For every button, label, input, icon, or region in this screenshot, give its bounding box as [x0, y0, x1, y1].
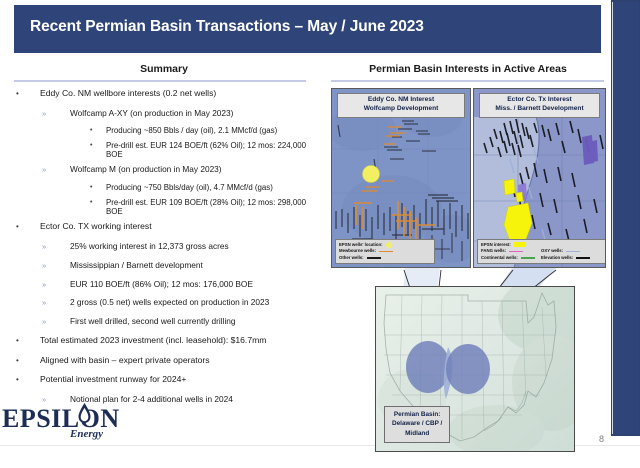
legend-label: Elevation wells: [541, 255, 573, 261]
bullet-marker-icon: • [90, 141, 106, 151]
bullet-marker-icon: • [90, 198, 106, 208]
bullet-marker-icon: » [42, 279, 70, 289]
bullet-text: Wolfcamp A-XY (on production in May 2023… [70, 108, 314, 118]
midland-basin-shape [446, 344, 490, 394]
legend-swatch-line-icon [521, 257, 535, 259]
legend-swatch-dot-icon [386, 242, 392, 248]
map-eddy-title-line2: Wolfcamp Development [338, 105, 464, 114]
legend-grid: FANG wells:OXY wells:Continental wells:E… [481, 248, 605, 261]
legend-swatch-line-icon [566, 251, 580, 253]
bullet-marker-icon: » [42, 164, 70, 174]
bullet-text: Eddy Co. NM wellbore interests (0.2 net … [40, 88, 314, 99]
map-panel-ector-co-tx[interactable]: Ector Co. Tx Interest Miss. / Barnett De… [473, 88, 606, 268]
map-eddy-title-line1: Eddy Co. NM Interest [338, 96, 464, 105]
summary-bullet-level-3: •Producing ~850 Bbls / day (oil), 2.1 MM… [14, 126, 314, 136]
bullet-text: Ector Co. TX working interest [40, 221, 314, 232]
bullet-marker-icon: » [42, 108, 70, 118]
bullet-marker-icon: • [16, 335, 40, 346]
summary-heading: Summary [14, 63, 314, 75]
texas-map-label-line2: Delaware / CBP / [392, 419, 442, 428]
legend-swatch-line-icon [379, 251, 393, 253]
summary-bullet-level-1: •Eddy Co. NM wellbore interests (0.2 net… [14, 88, 314, 99]
bullet-text: Wolfcamp M (on production in May 2023) [70, 164, 314, 174]
map-panel-texas-overview[interactable]: Permian Basin: Delaware / CBP / Midland [375, 286, 575, 452]
summary-bullet-level-1: •Potential investment runway for 2024+ [14, 374, 314, 385]
summary-bullet-level-3: •Producing ~750 Bbls/day (oil), 4.7 MMcf… [14, 183, 314, 193]
map-ector-title-line2: Miss. / Barnett Development [480, 105, 599, 114]
summary-divider [14, 80, 306, 82]
legend-row: Other wells: [339, 255, 431, 261]
summary-bullet-level-2: »25% working interest in 12,373 gross ac… [14, 241, 314, 251]
legend-row: Elevation wells: [541, 255, 606, 261]
legend-swatch-line-icon [576, 257, 590, 259]
bullet-text: Pre-drill est. EUR 109 BOE/ft (28% Oil);… [106, 198, 314, 217]
slide-canvas: Recent Permian Basin Transactions – May … [0, 0, 640, 468]
bullet-marker-icon: • [16, 221, 40, 232]
summary-bullet-level-2: »Mississippian / Barnett development [14, 260, 314, 270]
bullet-text: Producing ~750 Bbls/day (oil), 4.7 MMcf/… [106, 183, 314, 193]
epsn-well-location-marker [363, 166, 380, 183]
bullet-text: Mississippian / Barnett development [70, 260, 314, 270]
maps-heading: Permian Basin Interests in Active Areas [330, 63, 606, 75]
summary-bullet-level-2: »2 gross (0.5 net) wells expected on pro… [14, 297, 314, 307]
logo-tagline: Energy [70, 428, 103, 440]
bullet-text: Producing ~850 Bbls / day (oil), 2.1 MMc… [106, 126, 314, 136]
summary-bullet-level-1: •Aligned with basin – expert private ope… [14, 355, 314, 366]
map-eddy-legend: EPSN wells' location:Mewbourne wells:Oth… [335, 239, 435, 264]
map-panel-eddy-co-nm[interactable]: Eddy Co. NM Interest Wolfcamp Developmen… [331, 88, 471, 268]
bullet-text: Total estimated 2023 investment (incl. l… [40, 335, 314, 346]
map-eddy-title: Eddy Co. NM Interest Wolfcamp Developmen… [337, 93, 465, 118]
page-title: Recent Permian Basin Transactions – May … [30, 18, 424, 36]
bullet-text: First well drilled, second well currentl… [70, 316, 314, 326]
summary-bullet-level-2: »Wolfcamp M (on production in May 2023) [14, 164, 314, 174]
legend-row: Continental wells: [481, 255, 539, 261]
bullet-text: Pre-drill est. EUR 124 BOE/ft (62% Oil);… [106, 141, 314, 160]
bullet-marker-icon: » [42, 316, 70, 326]
legend-label: Continental wells: [481, 255, 518, 261]
texas-map-label-line1: Permian Basin: [392, 410, 442, 419]
bullet-text: EUR 110 BOE/ft (86% Oil); 12 mos: 176,00… [70, 279, 314, 289]
bullet-marker-icon: • [16, 88, 40, 99]
map-ector-title: Ector Co. Tx Interest Miss. / Barnett De… [479, 93, 600, 118]
bullet-marker-icon: » [42, 241, 70, 251]
right-accent-bar-inner [612, 2, 639, 434]
legend-swatch-line-icon [509, 251, 523, 253]
summary-bullet-list: •Eddy Co. NM wellbore interests (0.2 net… [14, 88, 314, 413]
summary-bullet-level-2: »First well drilled, second well current… [14, 316, 314, 326]
summary-bullet-level-3: •Pre-drill est. EUR 124 BOE/ft (62% Oil)… [14, 141, 314, 160]
bullet-text: Aligned with basin – expert private oper… [40, 355, 314, 366]
bullet-marker-icon: » [42, 260, 70, 270]
texas-map-label-line3: Midland [392, 429, 442, 438]
legend-swatch-line-icon [367, 257, 381, 259]
bullet-text: Potential investment runway for 2024+ [40, 374, 314, 385]
legend-label: Other wells: [339, 255, 364, 261]
page-number: 8 [599, 434, 604, 444]
summary-bullet-level-2: »EUR 110 BOE/ft (86% Oil); 12 mos: 176,0… [14, 279, 314, 289]
epsilon-energy-logo: EPSILON Energy [2, 400, 127, 444]
legend-swatch-box-icon [514, 242, 526, 247]
bullet-marker-icon: • [90, 183, 106, 193]
summary-bullet-level-3: •Pre-drill est. EUR 109 BOE/ft (28% Oil)… [14, 198, 314, 217]
oil-drop-icon [77, 402, 92, 424]
bullet-marker-icon: • [90, 126, 106, 136]
bullet-marker-icon: • [16, 355, 40, 366]
summary-bullet-level-1: •Ector Co. TX working interest [14, 221, 314, 232]
maps-divider [331, 80, 604, 82]
summary-bullet-level-2: »Wolfcamp A-XY (on production in May 202… [14, 108, 314, 118]
map-ector-legend: EPSN interest:FANG wells:OXY wells:Conti… [477, 239, 606, 264]
bullet-marker-icon: • [16, 374, 40, 385]
texas-map-label: Permian Basin: Delaware / CBP / Midland [384, 406, 450, 443]
slide-title-bar: Recent Permian Basin Transactions – May … [14, 5, 601, 53]
bullet-text: 25% working interest in 12,373 gross acr… [70, 241, 314, 251]
delaware-basin-shape [406, 341, 450, 393]
summary-bullet-level-1: •Total estimated 2023 investment (incl. … [14, 335, 314, 346]
bullet-text: 2 gross (0.5 net) wells expected on prod… [70, 297, 314, 307]
map-ector-title-line1: Ector Co. Tx Interest [480, 96, 599, 105]
bullet-marker-icon: » [42, 297, 70, 307]
